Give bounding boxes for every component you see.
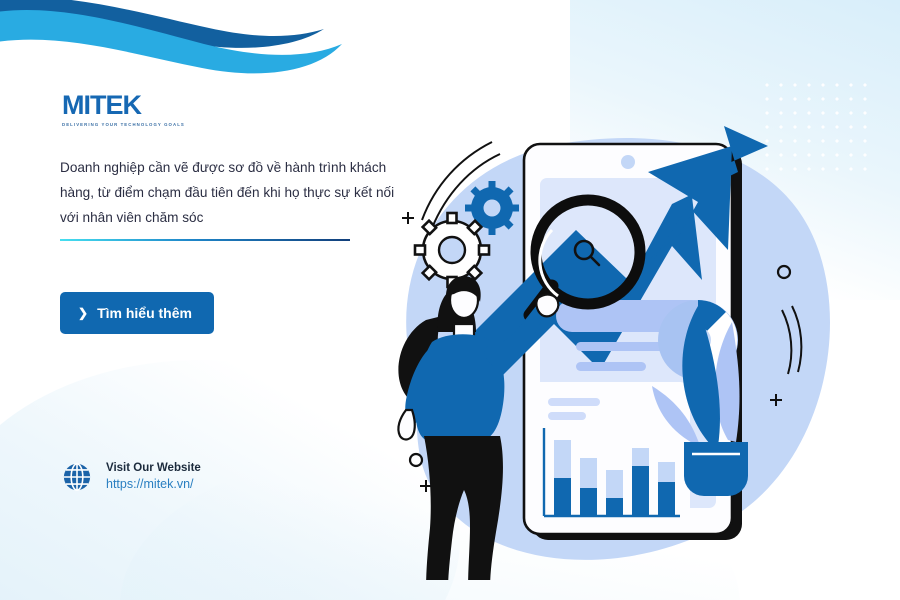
hand-left — [398, 410, 414, 439]
logo-tagline: DELIVERING YOUR TECHNOLOGY GOALS — [62, 122, 212, 127]
learn-more-label: Tìm hiểu thêm — [97, 305, 192, 321]
sparkle-top-left — [402, 212, 414, 224]
chevron-right-icon: ❯ — [78, 307, 88, 319]
learn-more-button[interactable]: ❯ Tìm hiểu thêm — [60, 292, 214, 334]
website-footer[interactable]: Visit Our Website https://mitek.vn/ — [62, 460, 201, 493]
divider — [60, 239, 350, 241]
decor-circle-left — [410, 454, 422, 466]
footer-title: Visit Our Website — [106, 460, 201, 476]
headline-text: Doanh nghiệp cần vẽ được sơ đồ về hành t… — [60, 155, 408, 230]
gear-large — [415, 213, 489, 287]
website-url[interactable]: https://mitek.vn/ — [106, 476, 201, 493]
tablet-camera — [621, 155, 635, 169]
hand-right — [536, 295, 558, 317]
content-column: MITEK DELIVERING YOUR TECHNOLOGY GOALS D… — [60, 0, 420, 600]
logo[interactable]: MITEK DELIVERING YOUR TECHNOLOGY GOALS — [62, 92, 212, 127]
data-analysis-illustration — [380, 110, 850, 580]
globe-icon — [62, 462, 92, 492]
promo-banner: MITEK DELIVERING YOUR TECHNOLOGY GOALS D… — [0, 0, 900, 600]
logo-text: MITEK — [62, 92, 212, 119]
